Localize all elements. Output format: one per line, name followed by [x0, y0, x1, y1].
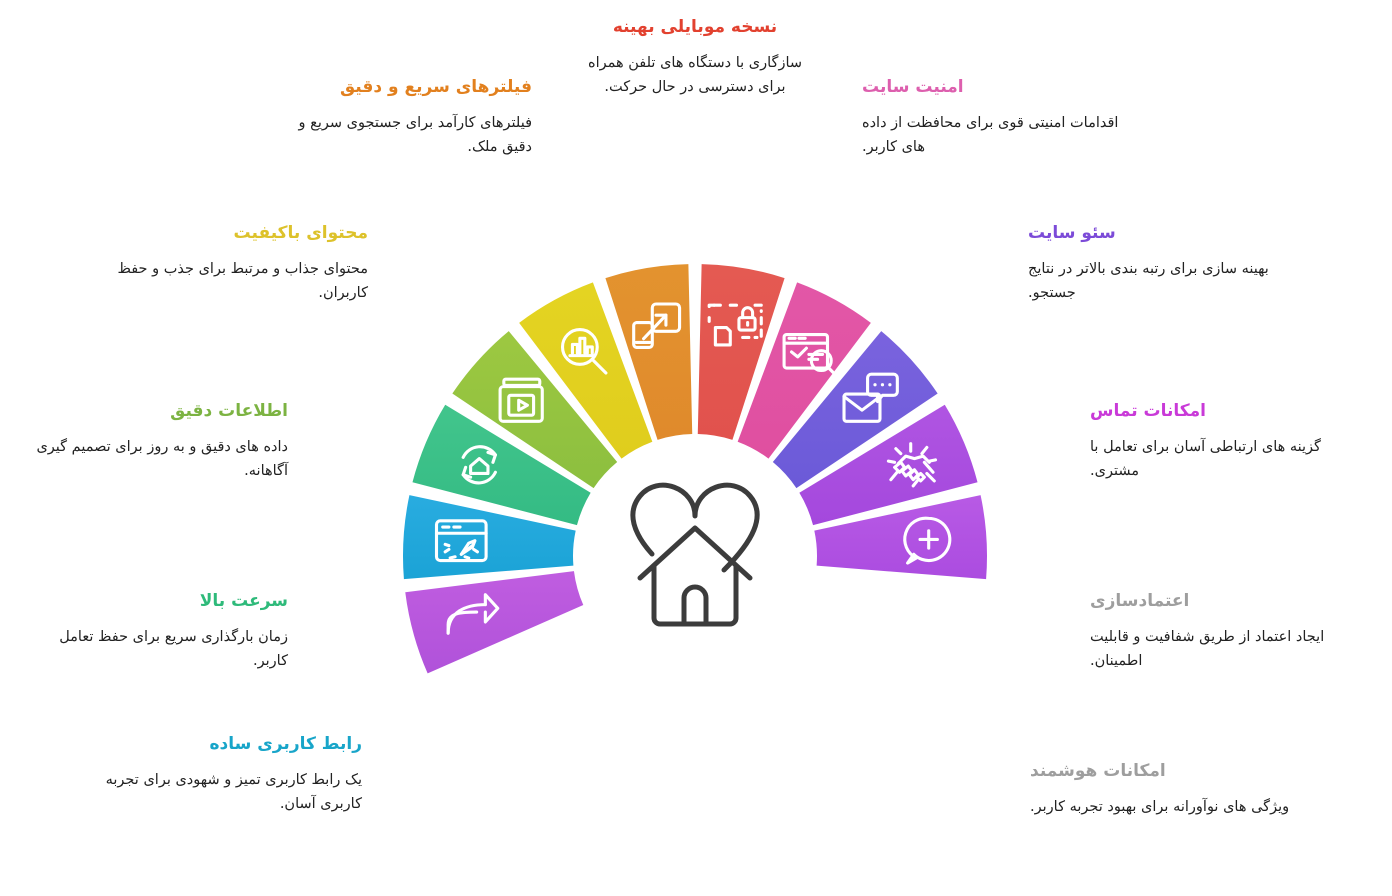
feature-title-simple-ui: رابط کاربری ساده [78, 733, 362, 755]
feature-title-high-speed: سرعت بالا [30, 590, 288, 612]
feature-desc-mobile-optimized: سازگاری با دستگاه های تلفن همراه برای دس… [575, 52, 815, 99]
feature-title-site-security: امنیت سایت [862, 76, 1124, 98]
wheel-segments [403, 264, 987, 673]
feature-label-site-seo: سئو سایتبهینه سازی برای رتبه بندی بالاتر… [1028, 222, 1290, 305]
heart-house-icon [633, 485, 757, 624]
feature-title-smart-features: امکانات هوشمند [1030, 760, 1300, 782]
infographic-canvas: رابط کاربری سادهیک رابط کاربری تمیز و شه… [0, 0, 1392, 896]
feature-title-fast-filters: فیلترهای سریع و دقیق [270, 76, 532, 98]
feature-desc-high-speed: زمان بارگذاری سریع برای حفظ تعامل کاربر. [30, 626, 288, 673]
feature-desc-trust-building: ایجاد اعتماد از طریق شفافیت و قابلیت اطم… [1090, 626, 1360, 673]
feature-desc-contact-options: گزینه های ارتباطی آسان برای تعامل با مشت… [1090, 436, 1360, 483]
feature-label-site-security: امنیت سایتاقدامات امنیتی قوی برای محافظت… [862, 76, 1124, 159]
feature-label-mobile-optimized: نسخه موبایلی بهینهسازگاری با دستگاه های … [575, 16, 815, 99]
feature-label-accurate-data: اطلاعات دقیقداده های دقیق و به روز برای … [30, 400, 288, 483]
feature-title-trust-building: اعتمادسازی [1090, 590, 1360, 612]
feature-desc-simple-ui: یک رابط کاربری تمیز و شهودی برای تجربه ک… [78, 769, 362, 816]
feature-title-mobile-optimized: نسخه موبایلی بهینه [575, 16, 815, 38]
feature-title-accurate-data: اطلاعات دقیق [30, 400, 288, 422]
feature-label-quality-content: محتوای باکیفیتمحتوای جذاب و مرتبط برای ج… [110, 222, 368, 305]
feature-title-quality-content: محتوای باکیفیت [110, 222, 368, 244]
feature-desc-site-security: اقدامات امنیتی قوی برای محافظت از داده ه… [862, 112, 1124, 159]
feature-title-contact-options: امکانات تماس [1090, 400, 1360, 422]
feature-label-high-speed: سرعت بالازمان بارگذاری سریع برای حفظ تعا… [30, 590, 288, 673]
feature-label-fast-filters: فیلترهای سریع و دقیقفیلترهای کارآمد برای… [270, 76, 532, 159]
feature-desc-site-seo: بهینه سازی برای رتبه بندی بالاتر در نتای… [1028, 258, 1290, 305]
feature-label-simple-ui: رابط کاربری سادهیک رابط کاربری تمیز و شه… [78, 733, 362, 816]
feature-desc-accurate-data: داده های دقیق و به روز برای تصمیم گیری آ… [30, 436, 288, 483]
feature-title-site-seo: سئو سایت [1028, 222, 1290, 244]
feature-desc-quality-content: محتوای جذاب و مرتبط برای جذب و حفظ کاربر… [110, 258, 368, 305]
center-emblem [633, 485, 757, 624]
feature-label-contact-options: امکانات تماسگزینه های ارتباطی آسان برای … [1090, 400, 1360, 483]
wheel-segment-simple-ui[interactable] [405, 571, 583, 673]
feature-desc-smart-features: ویژگی های نوآورانه برای بهبود تجربه کارب… [1030, 796, 1300, 819]
feature-label-smart-features: امکانات هوشمندویژگی های نوآورانه برای به… [1030, 760, 1300, 820]
feature-desc-fast-filters: فیلترهای کارآمد برای جستجوی سریع و دقیق … [270, 112, 532, 159]
feature-label-trust-building: اعتمادسازیایجاد اعتماد از طریق شفافیت و … [1090, 590, 1360, 673]
